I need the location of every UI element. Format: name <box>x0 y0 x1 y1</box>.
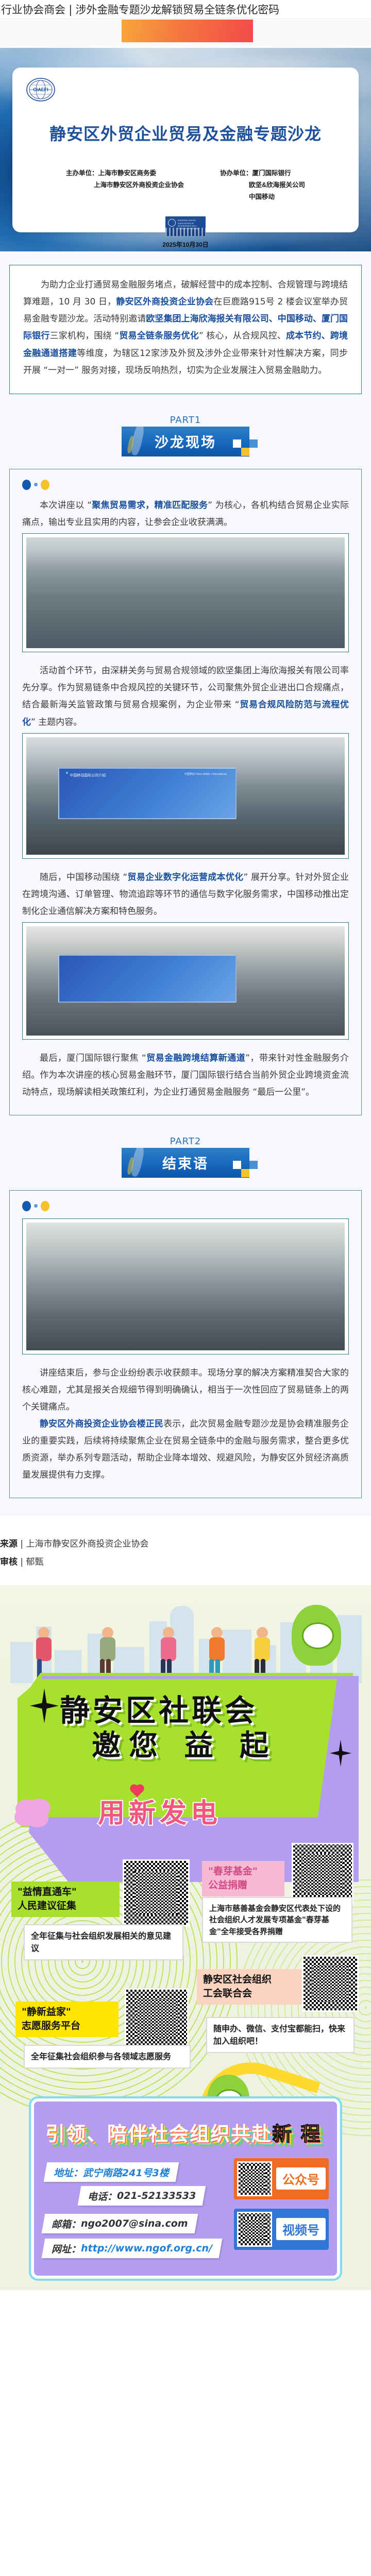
qr-code-video[interactable] <box>237 2212 272 2247</box>
contact-address-label: 地址： <box>54 2165 83 2179</box>
article-body: 为助力企业打通贸易金融服务堵点，破解经营中的成本控制、合规管理与跨境结算难题，1… <box>0 251 371 1516</box>
highlighted-text: 静安区外商投资企业协会楼正民 <box>40 1419 163 1429</box>
card-label-chunya-line2: 公益捐赠 <box>208 1878 278 1893</box>
dot-decoration <box>22 480 349 490</box>
organizer-row: 主办单位：上海市静安区商务委 上海市静安区外商投资企业协会 协办单位：厦门国际银… <box>26 167 345 203</box>
poster-card: CIAEFI 静安区外贸企业贸易及金融专题沙龙 主办单位：上海市静安区商务委 上… <box>12 67 359 232</box>
contact-slogan: 引领、陪伴社会组织共赴新 程 <box>45 2118 321 2146</box>
badge2-square-blue <box>249 1161 258 1169</box>
badge-square-white <box>233 439 241 448</box>
dot-small-icon <box>34 1204 38 1208</box>
credits-block: 来源 | 上海市静安区外商投资企业协会 审核 | 郁甄 <box>0 1516 371 1585</box>
contact-phone-value: 021-52133533 <box>117 2190 196 2201</box>
intro-paragraph: 为助力企业打通贸易金融服务堵点，破解经营中的成本控制、合规管理与跨境结算难题，1… <box>23 277 348 379</box>
salon-photo-2: 中国移动国际公司介绍 中国移动 China Mobile | Internati… <box>26 737 345 855</box>
organizer-block: 主办单位：上海市静安区商务委 上海市静安区外商投资企业协会 <box>66 167 184 203</box>
photo-card-4 <box>22 1218 349 1354</box>
part2-number: PART2 <box>9 1136 362 1147</box>
salon-photo-3 <box>26 926 345 1036</box>
part1-paragraph-4: 最后，厦门国际银行聚焦 “贸易金融跨境结算新通道”，带来针对性金融服务介绍。作为… <box>22 1050 349 1101</box>
qr-code-gonghui[interactable] <box>302 1955 359 2012</box>
credit-review: 审核 | 郁甄 <box>0 1553 371 1572</box>
card-label-yiqing-line1: "益情直通车" <box>18 1885 113 1900</box>
qr-block-official[interactable]: 公众号 <box>234 2158 329 2199</box>
co-organizer-line-3: 中国移动 <box>220 191 305 203</box>
dot-blue-icon <box>22 480 31 490</box>
qr-label-video: 视频号 <box>276 2218 326 2240</box>
contact-website[interactable]: 网址：http://www.ngof.org.cn/ <box>42 2239 223 2258</box>
dot-decoration-2 <box>22 1201 349 1211</box>
organizer-line-2: 上海市静安区外商投资企业协会 <box>66 179 184 191</box>
poster-date: 2025年10月30日 <box>26 240 345 249</box>
part2-badge: 结束语 <box>122 1148 249 1178</box>
part1-card: 本次讲座以 “聚焦贸易需求，精准匹配服务” 为核心，各机构结合贸易企业实际痛点，… <box>9 469 362 1115</box>
credit-sep-1: | <box>20 1539 23 1549</box>
co-organizer-line-1: 协办单位：厦门国际银行 <box>220 167 305 179</box>
skyline-graphic <box>165 228 206 236</box>
page-title-bar: 行业协会商会 | 涉外金融专题沙龙解锁贸易全链条优化密码 <box>0 0 371 19</box>
part2-header: PART2 结束语 <box>9 1129 362 1190</box>
hero-strip <box>0 19 371 46</box>
contact-email-label: 邮箱： <box>52 2216 81 2230</box>
event-poster: CIAEFI 静安区外贸企业贸易及金融专题沙龙 主办单位：上海市静安区商务委 上… <box>0 48 371 251</box>
ad-headline-2: 邀您 益 起 <box>92 1722 277 1764</box>
badge-square-yellow <box>241 448 249 456</box>
badge2-square-yellow <box>241 1169 249 1177</box>
footer-spacer <box>0 2290 371 2300</box>
contact-address: 地址：武宁南路241号3楼 <box>44 2162 179 2182</box>
co-organizer-line-2: 欧坚&欣海报关公司 <box>220 179 305 191</box>
organizer-label: 主办单位： <box>66 170 98 177</box>
highlighted-text: 贸易全链条服务优化 <box>119 331 199 341</box>
body-text: 本次讲座以 “ <box>40 500 92 511</box>
body-text: 三家机构，围绕 “ <box>50 331 120 341</box>
body-text: 讲座结束后，参与企业纷纷表示收获颇丰。现场分享的解决方案精准契合大家的核心难题，… <box>22 1368 349 1412</box>
part2-badge-label: 结束语 <box>162 1153 209 1173</box>
highlighted-text: 聚焦贸易需求，精准匹配服务 <box>92 500 208 511</box>
credit-source: 来源 | 上海市静安区外商投资企业协会 <box>0 1535 371 1554</box>
contact-slogan-highlight: 新 程 <box>272 2123 321 2145</box>
body-text: ” 主题内容。 <box>31 717 82 727</box>
qr-code-yiqing[interactable] <box>123 1859 190 1926</box>
contact-website-value: http://www.ngof.org.cn/ <box>81 2243 212 2254</box>
part1-header: PART1 沙龙现场 <box>9 408 362 469</box>
people-illustration <box>0 1600 371 1685</box>
credit-review-value: 郁甄 <box>26 1557 44 1567</box>
card-label-yiqing: "益情直通车" 人民建议征集 <box>11 1882 120 1917</box>
organizer-value-1: 上海市静安区商务委 <box>98 170 156 177</box>
credit-source-label: 来源 <box>0 1539 18 1549</box>
poster-section: CIAEFI 静安区外贸企业贸易及金融专题沙龙 主办单位：上海市静安区商务委 上… <box>0 46 371 251</box>
qr-code-jingxin[interactable] <box>125 1988 189 2049</box>
badge-square-blue <box>249 439 258 448</box>
card-label-gonghui-line2: 工会联合会 <box>203 1987 297 2001</box>
dot-small-icon <box>34 483 38 486</box>
credit-sep-2: | <box>20 1557 23 1567</box>
contact-block: 引领、陪伴社会组织共赴新 程 地址：武宁南路241号3楼 电话：021-5213… <box>31 2098 340 2279</box>
card-label-gonghui: 静安区社会组织 工会联合会 <box>197 1969 303 2005</box>
part1-paragraph-1: 本次讲座以 “聚焦贸易需求，精准匹配服务” 为核心，各机构结合贸易企业实际痛点，… <box>22 497 349 531</box>
dot-blue-icon <box>22 1201 31 1211</box>
badge2-square-white <box>233 1161 241 1169</box>
card-body-chunya: 上海市慈善基金会静安区代表处下设的社会组织人才发展专项基金"春芽基金"全年接受各… <box>202 1897 352 1943</box>
flower-icon <box>19 1801 45 1823</box>
card-body-yiqing: 全年征集与社会组织发展相关的意见建议 <box>24 1924 183 1960</box>
globe-icon <box>168 219 176 227</box>
dot-yellow-icon <box>41 480 49 490</box>
screen-brand-logo: 中国移动 China Mobile | International <box>184 772 227 776</box>
screen-bullet-icon <box>66 772 68 774</box>
card-label-jingxin-line1: "静新益家" <box>22 2005 112 2020</box>
part1-badge-label: 沙龙现场 <box>155 431 216 451</box>
mascot-sprout-icon <box>289 1605 345 1672</box>
contact-slogan-main: 引领、陪伴社会组织共赴 <box>45 2123 272 2145</box>
intro-card: 为助力企业打通贸易金融服务堵点，破解经营中的成本控制、合规管理与跨境结算难题，1… <box>9 265 362 394</box>
presentation-screen-2 <box>58 955 237 1003</box>
part1-paragraph-2: 活动首个环节，由深耕关务与贸易合规领域的欧坚集团上海欣海报关有限公司率先分享。作… <box>22 663 349 731</box>
credit-review-label: 审核 <box>0 1557 18 1567</box>
qr-code-official[interactable] <box>237 2161 272 2196</box>
body-text: 随后，中国移动围绕 “ <box>40 872 127 883</box>
contact-email-value: ngo2007@sina.com <box>81 2218 188 2229</box>
co-organizer-value-1: 厦门国际银行 <box>252 170 291 177</box>
card-label-yiqing-line2: 人民建议征集 <box>18 1899 113 1913</box>
body-text: ” 核心，从合规风控、 <box>199 331 286 341</box>
part1-badge: 沙龙现场 <box>122 427 249 456</box>
qr-label-official: 公众号 <box>276 2167 326 2190</box>
ad-headline-3: 用新发电 <box>98 1791 222 1830</box>
photo-card-3 <box>22 922 349 1040</box>
highlighted-text: 贸易企业数字化运营成本优化 <box>127 872 243 883</box>
presentation-screen: 中国移动国际公司介绍 中国移动 China Mobile | Internati… <box>58 768 237 819</box>
screen-heading: 中国移动国际公司介绍 <box>70 773 106 778</box>
body-text: 最后，厦门国际银行聚焦 “ <box>40 1053 146 1063</box>
salon-photo-1 <box>26 537 345 648</box>
card-label-jingxin-line2: 志愿服务平台 <box>22 2019 112 2033</box>
card-body-jingxin: 全年征集社会组织参与各领域志愿服务 <box>24 2045 191 2069</box>
qr-code-chunya[interactable] <box>292 1843 353 1905</box>
part2-paragraph-2: 静安区外商投资企业协会楼正民表示，此次贸易金融专题沙龙是协会精准服务企业的重要实… <box>22 1416 349 1484</box>
highlighted-text: 贸易金融跨境结算新通道 <box>146 1053 245 1063</box>
promo-poster: 静安区社联会 邀您 益 起 用新发电 "益情直通车" 人民建议征集 全年征集与社… <box>0 1585 371 2290</box>
contact-phone: 电话：021-52133533 <box>78 2186 206 2206</box>
association-logo: SHANGHAI JING'AN ASSOCIATION OF ENTERPRI… <box>165 216 206 236</box>
part1-badge-wrap: 沙龙现场 <box>122 427 249 456</box>
contact-address-value: 武宁南路241号3楼 <box>83 2165 169 2179</box>
co-organizer-block: 协办单位：厦门国际银行 欧坚&欣海报关公司 中国移动 <box>220 167 305 203</box>
highlighted-text: 静安区外商投资企业协会 <box>116 297 213 307</box>
contact-phone-label: 电话： <box>88 2189 117 2202</box>
part2-badge-wrap: 结束语 <box>122 1148 249 1178</box>
page-title: 行业协会商会 | 涉外金融专题沙龙解锁贸易全链条优化密码 <box>1 2 279 17</box>
hero-red-banner <box>122 20 253 42</box>
salon-photo-4 <box>26 1223 345 1350</box>
photo-card-1 <box>22 533 349 652</box>
card-label-chunya-line1: "春芽基金" <box>208 1865 278 1879</box>
contact-website-label: 网址： <box>52 2241 81 2255</box>
contact-email: 邮箱：ngo2007@sina.com <box>42 2214 198 2233</box>
part2-paragraph-1: 讲座结束后，参与企业纷纷表示收获颇丰。现场分享的解决方案精准契合大家的核心难题，… <box>22 1365 349 1416</box>
dot-yellow-icon <box>41 1201 49 1211</box>
co-organizer-label: 协办单位： <box>220 170 252 177</box>
photo-card-2: 中国移动国际公司介绍 中国移动 China Mobile | Internati… <box>22 733 349 859</box>
organizer-line-1: 主办单位：上海市静安区商务委 <box>66 167 184 179</box>
svg-text:CIAEFI: CIAEFI <box>33 87 48 92</box>
credit-source-value: 上海市静安区外商投资企业协会 <box>26 1539 149 1549</box>
card-label-chunya: "春芽基金" 公益捐赠 <box>202 1861 284 1896</box>
card-body-gonghui: 随申办、微信、支付宝都能扫，快来加入组织吧！ <box>206 2017 355 2053</box>
article-page: 行业协会商会 | 涉外金融专题沙龙解锁贸易全链条优化密码 CIAEF <box>0 0 371 2300</box>
qr-block-video[interactable]: 视频号 <box>234 2209 329 2250</box>
part1-paragraph-3: 随后，中国移动围绕 “贸易企业数字化运营成本优化” 展开分享。针对外贸企业在跨境… <box>22 869 349 920</box>
part2-card: 讲座结束后，参与企业纷纷表示收获颇丰。现场分享的解决方案精准契合大家的核心难题，… <box>9 1190 362 1498</box>
card-label-gonghui-line1: 静安区社会组织 <box>203 1973 297 1987</box>
card-label-jingxin: "静新益家" 志愿服务平台 <box>15 2002 119 2037</box>
poster-title: 静安区外贸企业贸易及金融专题沙龙 <box>26 121 345 145</box>
part1-number: PART1 <box>9 415 362 426</box>
association-emblem-icon: CIAEFI <box>26 77 61 104</box>
